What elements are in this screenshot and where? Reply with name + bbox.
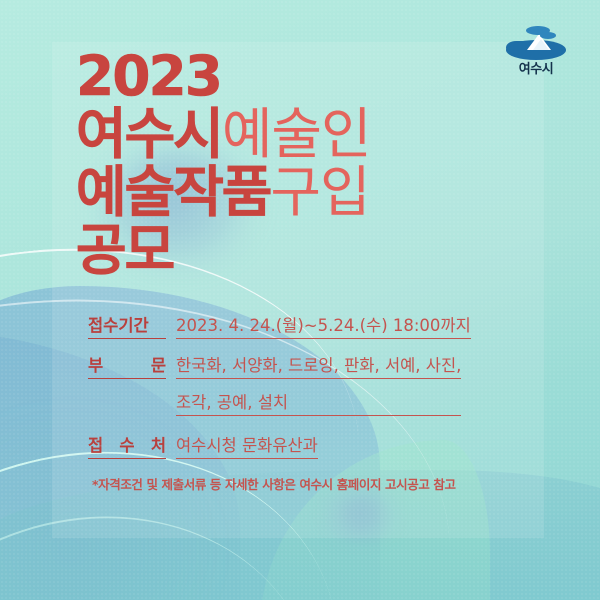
headline-line-3: 예술작품구입 bbox=[76, 164, 516, 220]
detail-label-char: 문 bbox=[151, 352, 166, 376]
poster-root: 여수시 2023 여수시예술인 예술작품구입 공모 접수기간 2023. 4. … bbox=[0, 0, 600, 600]
headline-city: 여수시 bbox=[76, 102, 222, 166]
detail-value-categories: 한국화, 서양화, 드로잉, 판화, 서예, 사진, 조각, 공예, 설치 bbox=[176, 352, 461, 416]
detail-label-categories: 부 문 bbox=[88, 352, 166, 379]
detail-label-reception-office: 접 수 처 bbox=[88, 432, 166, 459]
detail-value-application-period: 2023. 4. 24.(월)~5.24.(수) 18:00까지 bbox=[176, 312, 471, 339]
page-title: 2023 여수시예술인 예술작품구입 공모 bbox=[76, 48, 516, 278]
headline-open-call: 공모 bbox=[76, 218, 173, 282]
headline-purchase: 구입 bbox=[270, 160, 369, 224]
detail-value-line: 조각, 공예, 설치 bbox=[176, 389, 461, 416]
detail-label-application-period: 접수기간 bbox=[88, 312, 166, 339]
detail-label-char: 수 bbox=[119, 432, 134, 456]
detail-value-line: 한국화, 서양화, 드로잉, 판화, 서예, 사진, bbox=[176, 352, 461, 379]
detail-label-char: 처 bbox=[151, 432, 166, 456]
headline-line-4: 공모 bbox=[76, 222, 516, 278]
logo-label: 여수시 bbox=[519, 63, 553, 76]
logo-drop-shape-2 bbox=[540, 32, 556, 39]
headline-artist: 예술인 bbox=[222, 102, 371, 166]
detail-value-line: 2023. 4. 24.(월)~5.24.(수) 18:00까지 bbox=[176, 312, 471, 339]
headline-line-2: 여수시예술인 bbox=[76, 106, 516, 162]
detail-label-char: 부 bbox=[88, 352, 103, 376]
headline-year: 2023 bbox=[76, 44, 221, 108]
detail-value-reception-office: 여수시청 문화유산과 bbox=[176, 432, 318, 459]
headline-artwork: 예술작품 bbox=[76, 160, 270, 224]
detail-row-application-period: 접수기간 2023. 4. 24.(월)~5.24.(수) 18:00까지 bbox=[88, 312, 528, 339]
footnote-text: *자격조건 및 제출서류 등 자세한 사항은 여수시 홈페이지 고시공고 참고 bbox=[92, 474, 532, 493]
logo-peak-inner-shape bbox=[533, 39, 549, 50]
detail-row-categories: 부 문 한국화, 서양화, 드로잉, 판화, 서예, 사진, 조각, 공예, 설… bbox=[88, 352, 528, 416]
detail-list: 접수기간 2023. 4. 24.(월)~5.24.(수) 18:00까지 부 … bbox=[88, 312, 528, 472]
headline-line-1: 2023 bbox=[76, 48, 516, 104]
detail-value-line: 여수시청 문화유산과 bbox=[176, 432, 318, 459]
detail-label-char: 접 bbox=[88, 432, 103, 456]
detail-row-reception-office: 접 수 처 여수시청 문화유산과 bbox=[88, 432, 528, 459]
